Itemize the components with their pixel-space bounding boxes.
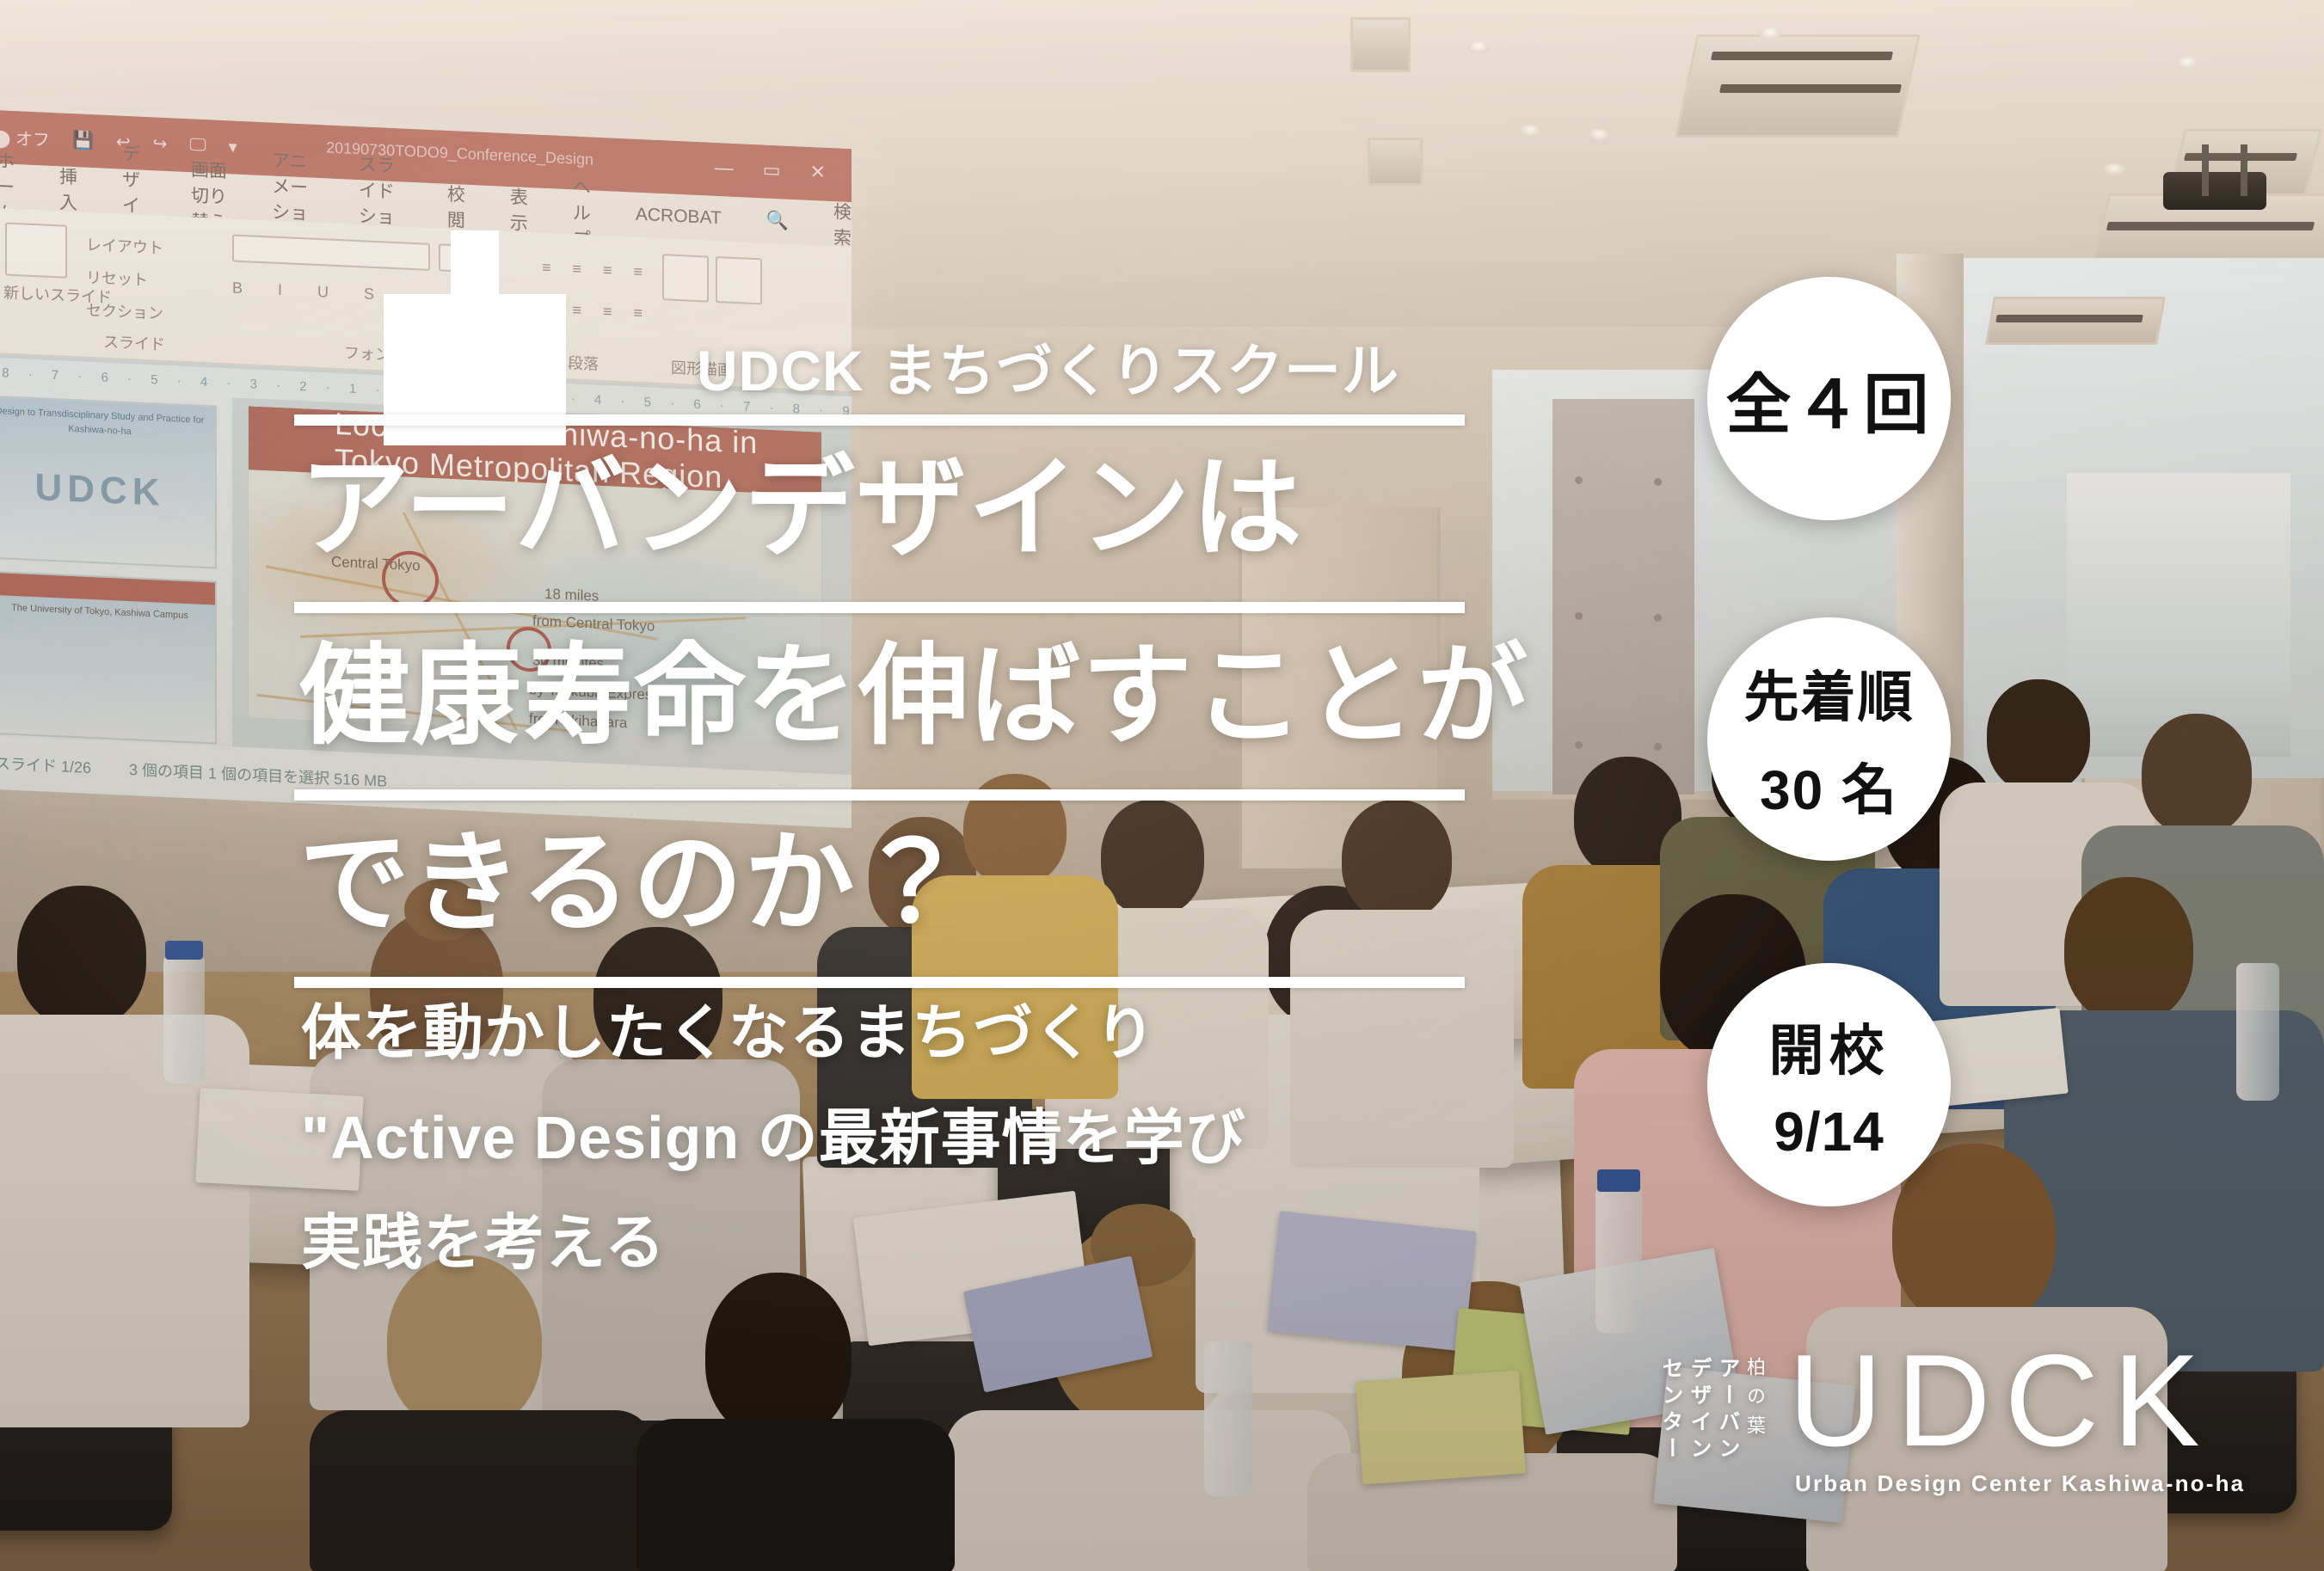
udck-english-name: Urban Design Center Kashiwa-no-ha [1795,1470,2245,1497]
logo-vcol-kashiwanoha: 柏の葉 [1745,1357,1764,1464]
badge-open-date: 開校 9/14 [1707,963,1951,1206]
divider-rule-4 [294,977,1465,988]
logo-vcol-center: センター [1660,1357,1682,1464]
udck-logo: 柏の葉 アーバン デザイン センター UDCK Urban Design Cen… [1660,1341,2245,1522]
subtitle-line-2: "Active Design の最新事情を学び [301,1108,1246,1168]
subtitle-line-1: 体を動かしたくなるまちづくり [301,1003,1156,1063]
poster-root: ⬤ オフ 💾 ↩ ↪ 🖵 ▾ 20190730TODO9_Conference_… [0,0,2324,1571]
logo-vcol-design: デザイン [1688,1357,1710,1464]
school-building-clock-icon [372,230,578,463]
badge-open-date-line2: 9/14 [1774,1100,1884,1163]
badge-capacity-line1: 先着順 [1744,654,1915,733]
divider-rule-1 [294,414,1465,426]
badge-sessions: 全４回 [1707,277,1951,520]
badge-capacity-line2: 30 名 [1760,746,1898,825]
divider-rule-2 [294,602,1465,613]
headline-line-3: できるのか？ [299,829,968,939]
headline-line-2: 健康寿命を伸ばすことが [299,641,1529,752]
udck-logo-vertical-text: 柏の葉 アーバン デザイン センター [1660,1357,1764,1464]
logo-vcol-urban: アーバン [1717,1357,1738,1464]
udck-wordmark: UDCK [1788,1341,2245,1462]
subtitle-line-3: 実践を考える [301,1212,666,1273]
poster-overlay: UDCK まちづくりスクール アーバンデザインは 健康寿命を伸ばすことが できる… [0,0,2324,1571]
divider-rule-3 [294,789,1465,801]
headline-line-1: アーバンデザインは [299,454,1303,564]
badge-capacity: 先着順 30 名 [1707,617,1951,861]
badge-open-date-line1: 開校 [1769,1007,1890,1086]
kicker-text: UDCK まちづくりスクール [697,325,1399,408]
badge-sessions-line1: 全４回 [1726,352,1933,446]
